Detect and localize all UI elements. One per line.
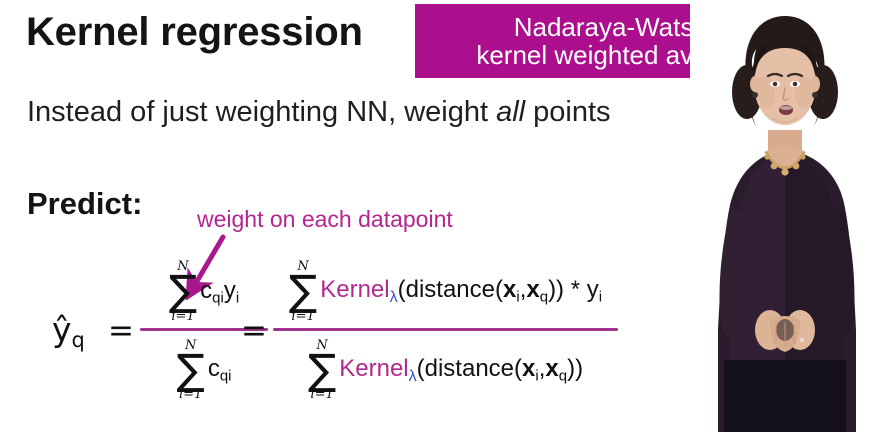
sigma-glyph: ∑ bbox=[169, 274, 197, 308]
fraction-2-denominator: N ∑ i=1 Kernelλ(distance(xi,xq)) bbox=[273, 331, 618, 409]
sum-lower-limit: i=1 bbox=[179, 388, 202, 401]
sum-lower-limit: i=1 bbox=[310, 388, 333, 401]
x-i-symbol: x bbox=[522, 355, 535, 382]
kernel-word: Kernel bbox=[320, 276, 389, 303]
x-q-symbol: x bbox=[526, 276, 539, 303]
fraction-2-numerator: N ∑ i=1 Kernelλ(distance(xi,xq)) * yi bbox=[273, 255, 618, 328]
sigma-glyph: ∑ bbox=[177, 353, 205, 387]
sum-lower-limit: i=1 bbox=[291, 310, 314, 323]
summation-symbol: N ∑ i=1 bbox=[169, 260, 197, 322]
times-operator: * bbox=[564, 276, 587, 303]
subtitle-before: Instead of just weighting NN, weight bbox=[27, 96, 496, 128]
c-subscript: qi bbox=[212, 289, 224, 306]
page-title: Kernel regression bbox=[26, 10, 363, 55]
sigma-glyph: ∑ bbox=[308, 353, 336, 387]
distance-open: (distance( bbox=[417, 355, 522, 382]
y-subscript: i bbox=[599, 289, 602, 306]
equation-lhs: ŷq bbox=[52, 310, 85, 352]
fraction-kernel: N ∑ i=1 Kernelλ(distance(xi,xq)) * yi N … bbox=[273, 255, 618, 409]
equals-sign-2: = bbox=[241, 313, 267, 349]
x-i-symbol: x bbox=[503, 276, 516, 303]
presenter-video-overlay bbox=[690, 0, 879, 432]
x-q-subscript: q bbox=[559, 367, 567, 384]
sum-lower-limit: i=1 bbox=[171, 310, 194, 323]
subtitle: Instead of just weighting NN, weight all… bbox=[27, 96, 611, 129]
fraction-2-denominator-expression: Kernelλ(distance(xi,xq)) bbox=[339, 355, 583, 386]
y-symbol: y bbox=[224, 277, 236, 304]
prediction-equation: ŷq = N ∑ i=1 cqiyi N ∑ i=1 cqi bbox=[40, 255, 680, 430]
fraction-1-numerator-expression: cqiyi bbox=[200, 277, 239, 307]
subtitle-after: points bbox=[525, 96, 610, 128]
y-subscript: i bbox=[236, 289, 239, 306]
sigma-glyph: ∑ bbox=[289, 274, 317, 308]
fraction-2-numerator-expression: Kernelλ(distance(xi,xq)) * yi bbox=[320, 276, 602, 307]
y-symbol: y bbox=[587, 276, 599, 303]
x-q-symbol: x bbox=[545, 355, 558, 382]
lambda-subscript: λ bbox=[390, 289, 398, 306]
c-symbol: c bbox=[200, 277, 212, 304]
kernel-word: Kernel bbox=[339, 355, 408, 382]
distance-open: (distance( bbox=[398, 276, 503, 303]
predict-label: Predict: bbox=[27, 186, 142, 222]
c-symbol: c bbox=[208, 355, 220, 382]
x-q-subscript: q bbox=[540, 289, 548, 306]
y-hat-symbol: ŷ bbox=[52, 310, 72, 349]
presenter-figure bbox=[690, 0, 879, 432]
slide-canvas: Kernel regression Nadaraya-Watson kernel… bbox=[0, 0, 879, 432]
distance-close: )) bbox=[567, 355, 583, 382]
summation-symbol: N ∑ i=1 bbox=[177, 339, 205, 401]
lambda-subscript: λ bbox=[409, 367, 417, 384]
y-hat-subscript: q bbox=[72, 328, 85, 352]
summation-symbol: N ∑ i=1 bbox=[308, 339, 336, 401]
summation-symbol: N ∑ i=1 bbox=[289, 260, 317, 322]
fraction-1-denominator-expression: cqi bbox=[208, 355, 232, 385]
equals-sign-1: = bbox=[108, 313, 134, 349]
c-subscript: qi bbox=[220, 368, 232, 385]
distance-close: )) bbox=[548, 276, 564, 303]
subtitle-emphasis: all bbox=[496, 96, 525, 128]
annotation-label: weight on each datapoint bbox=[197, 206, 453, 233]
